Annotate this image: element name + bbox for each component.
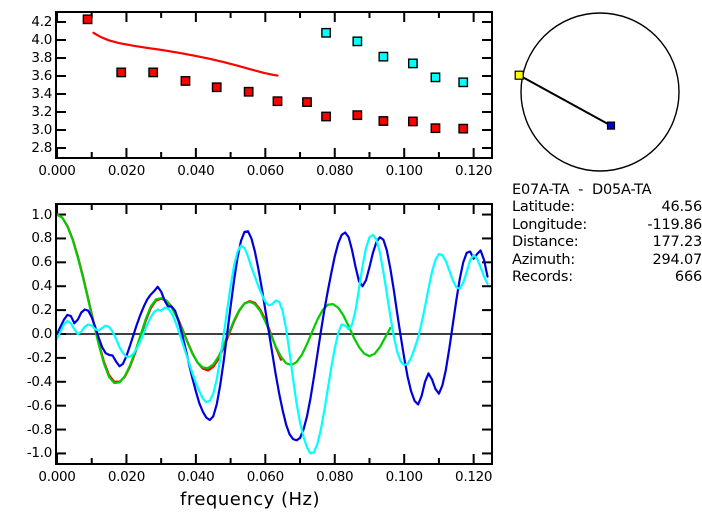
x-tick-label: 0.000 [33, 469, 81, 485]
y-tick-label: -1.0 [6, 445, 52, 461]
info-label: Azimuth: [512, 252, 575, 268]
info-label: Longitude: [512, 217, 587, 233]
x-tick-label: 0.060 [241, 469, 289, 485]
info-value: -119.86 [647, 217, 702, 234]
x-tick-label: 0.060 [241, 163, 289, 179]
info-label: Distance: [512, 234, 579, 250]
y-tick-label: 4.2 [6, 14, 52, 30]
y-tick-label: 2.8 [6, 140, 52, 156]
info-value: 294.07 [652, 252, 702, 269]
station-a-marker [515, 71, 523, 79]
info-row: Latitude:46.56 [512, 199, 702, 216]
y-tick-label: -0.4 [6, 374, 52, 390]
y-tick-label: 0.2 [6, 302, 52, 318]
y-tick-label: 0.6 [6, 254, 52, 270]
info-value: 177.23 [652, 234, 702, 251]
phase-velocity-plot [55, 11, 493, 159]
x-tick-label: 0.100 [380, 469, 428, 485]
coherency-canvas [57, 205, 491, 463]
y-tick-label: -0.8 [6, 422, 52, 438]
y-tick-label: 3.2 [6, 104, 52, 120]
station-geometry-canvas [512, 8, 692, 176]
y-tick-label: 3.4 [6, 86, 52, 102]
x-tick-label: 0.100 [380, 163, 428, 179]
y-tick-label: 4.0 [6, 32, 52, 48]
y-tick-label: 1.0 [6, 207, 52, 223]
x-tick-label: 0.020 [102, 163, 150, 179]
info-row: Azimuth:294.07 [512, 252, 702, 269]
y-tick-label: 3.8 [6, 50, 52, 66]
info-row: Records:666 [512, 269, 702, 286]
y-tick-label: 0.0 [6, 326, 52, 342]
info-row: Longitude:-119.86 [512, 217, 702, 234]
x-tick-label: 0.020 [102, 469, 150, 485]
x-tick-label: 0.120 [450, 469, 498, 485]
x-tick-label: 0.000 [33, 163, 81, 179]
info-label: Latitude: [512, 199, 575, 215]
station-pair-info: E07A-TA - D05A-TA Latitude:46.56Longitud… [512, 182, 702, 286]
station-pair-title: E07A-TA - D05A-TA [512, 182, 702, 199]
x-tick-label: 0.080 [311, 163, 359, 179]
info-row: Distance:177.23 [512, 234, 702, 251]
info-value: 666 [675, 269, 702, 286]
y-tick-label: 0.8 [6, 230, 52, 246]
y-tick-label: -0.2 [6, 350, 52, 366]
x-tick-label: 0.120 [450, 163, 498, 179]
y-tick-label: 3.6 [6, 68, 52, 84]
x-axis-title: frequency (Hz) [0, 489, 500, 510]
x-tick-label: 0.080 [311, 469, 359, 485]
x-tick-label: 0.040 [172, 469, 220, 485]
station-b-marker [608, 122, 615, 129]
info-label: Records: [512, 269, 573, 285]
y-tick-label: 3.0 [6, 122, 52, 138]
coherency-plot [55, 203, 493, 465]
x-tick-label: 0.040 [172, 163, 220, 179]
phase-velocity-canvas [57, 13, 491, 157]
y-tick-label: 0.4 [6, 278, 52, 294]
y-tick-label: -0.6 [6, 398, 52, 414]
station-pair-fields: Latitude:46.56Longitude:-119.86Distance:… [512, 199, 702, 286]
station-geometry-map [512, 8, 692, 176]
info-value: 46.56 [661, 199, 702, 216]
